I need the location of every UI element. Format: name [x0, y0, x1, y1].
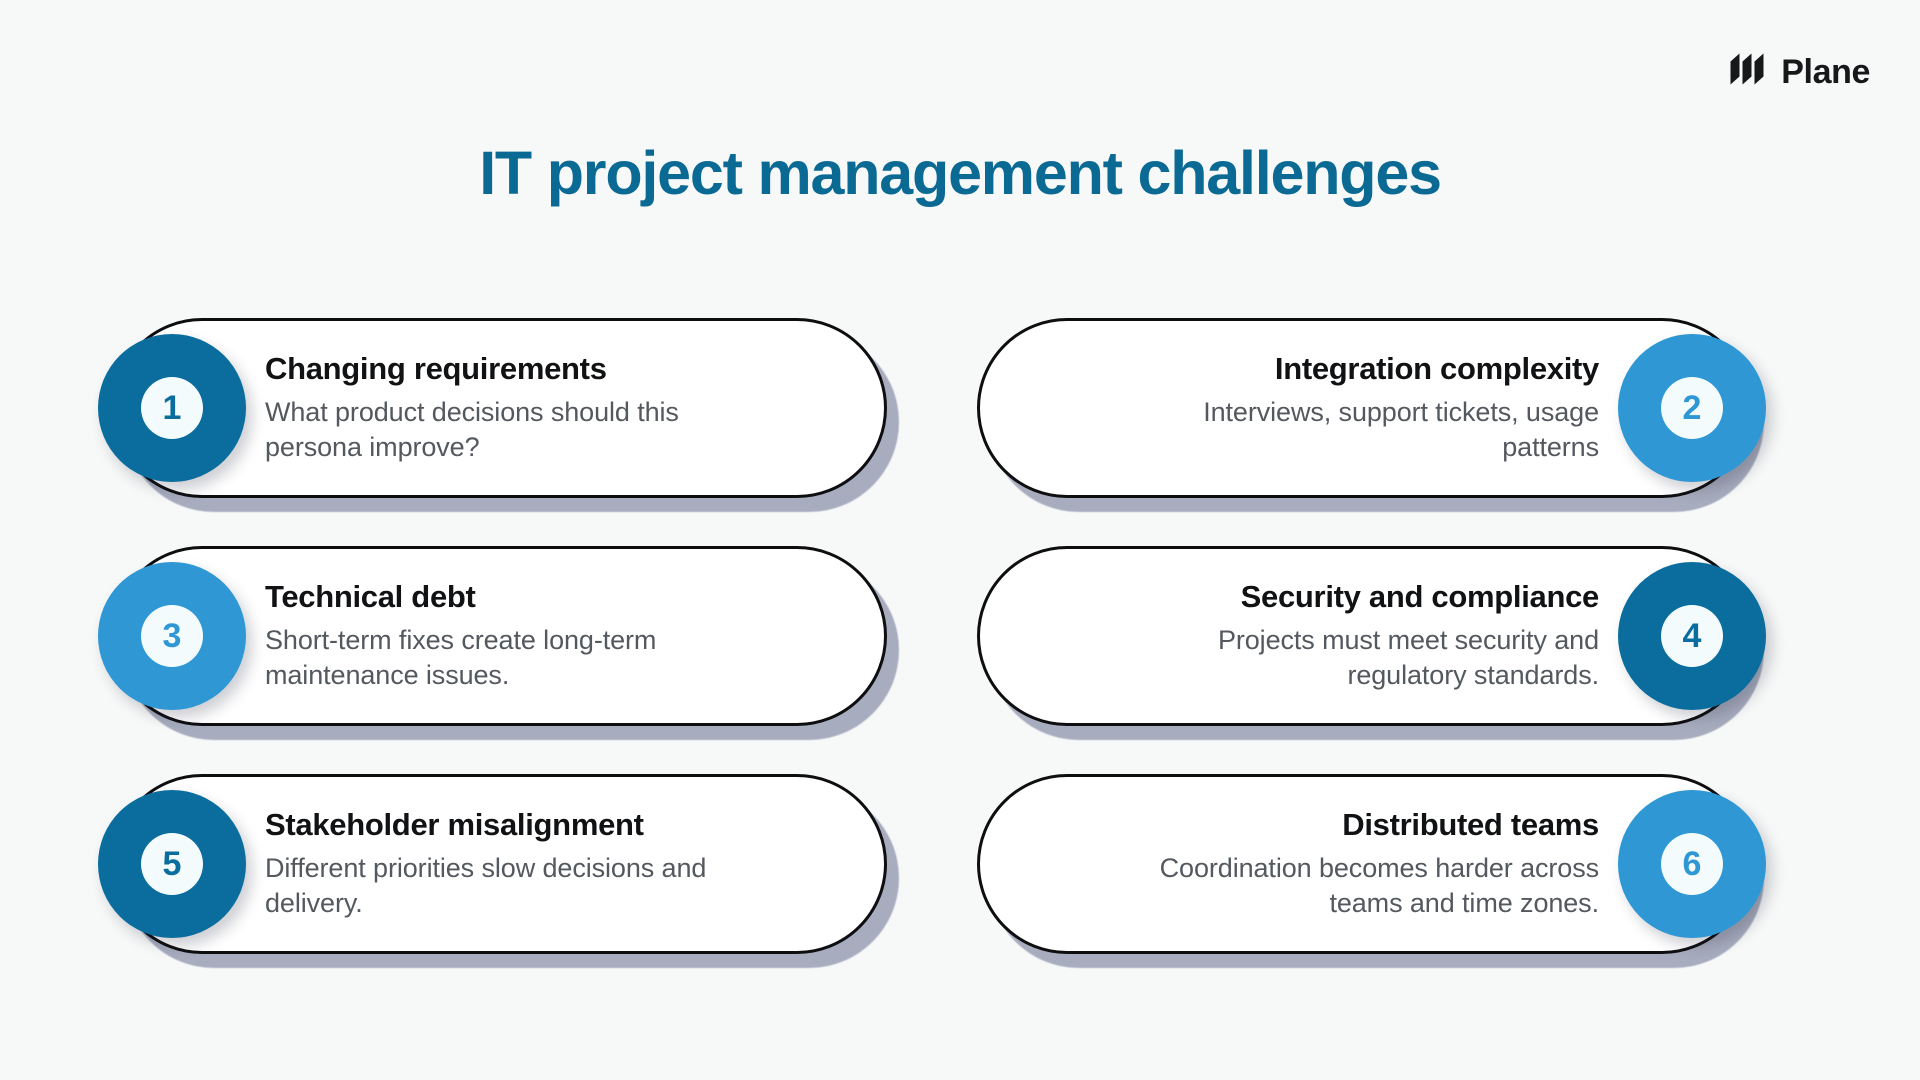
card-description: Interviews, support tickets, usage patte… [1129, 395, 1599, 466]
card-number-badge: 2 [1618, 334, 1766, 482]
card-number-badge: 4 [1618, 562, 1766, 710]
page-title: IT project management challenges [0, 140, 1920, 207]
challenge-card-3[interactable]: Technical debt Short-term fixes create l… [112, 546, 887, 726]
card-number-badge: 6 [1618, 790, 1766, 938]
card-number-badge: 3 [98, 562, 246, 710]
card-number-badge: 5 [98, 790, 246, 938]
challenge-card-6[interactable]: Distributed teams Coordination becomes h… [977, 774, 1752, 954]
card-title: Stakeholder misalignment [265, 806, 840, 845]
challenge-card-2[interactable]: Integration complexity Interviews, suppo… [977, 318, 1752, 498]
card-text: Changing requirements What product decis… [265, 350, 840, 466]
card-number: 1 [141, 377, 203, 439]
brand-lockup: Plane [1729, 52, 1870, 91]
challenge-card-grid: Changing requirements What product decis… [112, 318, 1812, 954]
challenge-card-4[interactable]: Security and compliance Projects must me… [977, 546, 1752, 726]
card-number: 6 [1661, 833, 1723, 895]
challenge-card-1[interactable]: Changing requirements What product decis… [112, 318, 887, 498]
card-text: Stakeholder misalignment Different prior… [265, 806, 840, 922]
card-number: 4 [1661, 605, 1723, 667]
plane-logo-icon [1729, 52, 1769, 91]
slide-canvas: Plane IT project management challenges C… [0, 0, 1920, 1080]
card-text: Integration complexity Interviews, suppo… [1024, 350, 1599, 466]
card-description: Coordination becomes harder across teams… [1129, 851, 1599, 922]
card-title: Security and compliance [1024, 578, 1599, 617]
card-description: Projects must meet security and regulato… [1129, 623, 1599, 694]
card-title: Distributed teams [1024, 806, 1599, 845]
card-title: Technical debt [265, 578, 840, 617]
card-number: 2 [1661, 377, 1723, 439]
card-title: Changing requirements [265, 350, 840, 389]
card-number: 5 [141, 833, 203, 895]
challenge-card-5[interactable]: Stakeholder misalignment Different prior… [112, 774, 887, 954]
card-text: Security and compliance Projects must me… [1024, 578, 1599, 694]
card-description: Different priorities slow decisions and … [265, 851, 735, 922]
card-number-badge: 1 [98, 334, 246, 482]
card-description: Short-term fixes create long-term mainte… [265, 623, 735, 694]
card-text: Distributed teams Coordination becomes h… [1024, 806, 1599, 922]
card-number: 3 [141, 605, 203, 667]
card-title: Integration complexity [1024, 350, 1599, 389]
card-description: What product decisions should this perso… [265, 395, 735, 466]
card-text: Technical debt Short-term fixes create l… [265, 578, 840, 694]
brand-name: Plane [1781, 55, 1870, 89]
